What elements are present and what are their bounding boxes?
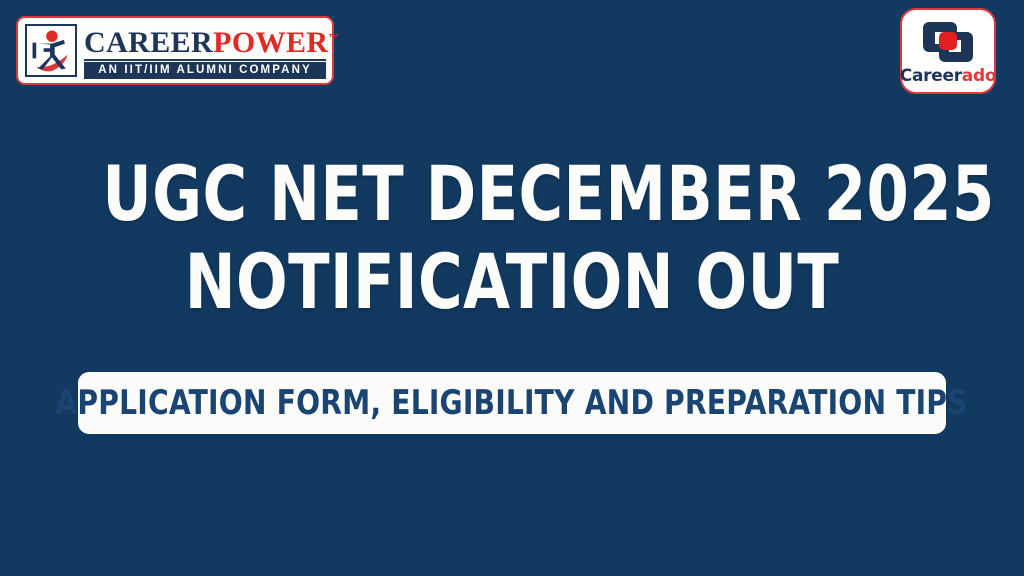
careerado-wordmark: Careerado (900, 67, 996, 86)
subtitle-banner: APPLICATION FORM, ELIGIBILITY AND PREPAR… (78, 372, 946, 434)
headline-line-2: NOTIFICATION OUT (102, 238, 921, 326)
headline-line-1: UGC NET DECEMBER 2025 (102, 150, 921, 238)
career-power-wordmark-block: CAREERPOWER™ AN IIT/IIM ALUMNI COMPANY (84, 23, 326, 79)
career-power-tagline: AN IIT/IIM ALUMNI COMPANY (84, 62, 326, 79)
career-power-logo[interactable]: CAREERPOWER™ AN IIT/IIM ALUMNI COMPANY (16, 16, 334, 85)
headline-block: UGC NET DECEMBER 2025 NOTIFICATION OUT (0, 150, 1024, 326)
career-power-word-power: POWER (213, 26, 328, 59)
promo-banner: CAREERPOWER™ AN IIT/IIM ALUMNI COMPANY C… (0, 0, 1024, 576)
subtitle-text: APPLICATION FORM, ELIGIBILITY AND PREPAR… (56, 384, 968, 422)
career-power-word-career: CAREER (84, 26, 213, 59)
careerado-word-ado: ado (962, 66, 996, 86)
career-power-figure-icon (25, 24, 77, 77)
careerado-word-career: Career (900, 66, 962, 86)
careerado-overlapping-squares-icon (919, 18, 977, 66)
careerado-logo[interactable]: Careerado (900, 8, 996, 94)
logo-divider-rule (84, 59, 326, 61)
career-power-wordmark: CAREERPOWER™ (84, 23, 326, 58)
trademark-symbol: ™ (328, 33, 338, 44)
